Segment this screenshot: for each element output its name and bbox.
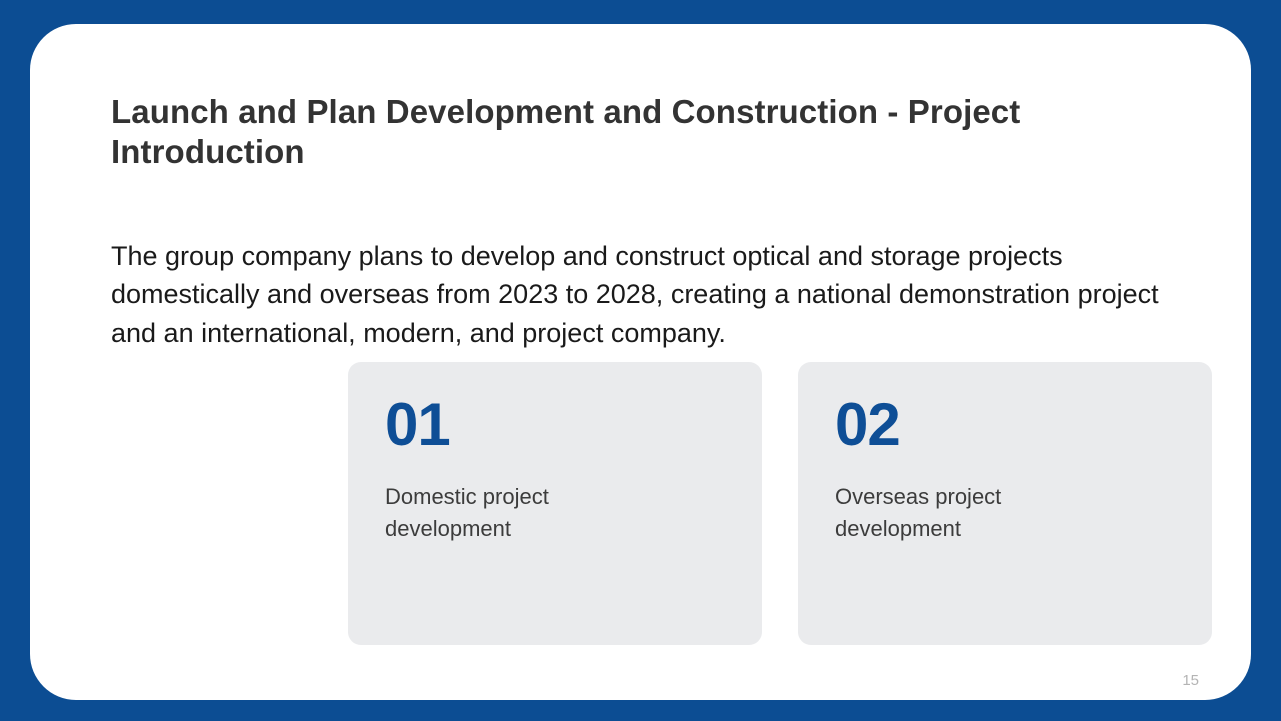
card-overseas-project[interactable]: 02 Overseas project development — [798, 362, 1212, 645]
page-title: Launch and Plan Development and Construc… — [111, 92, 1171, 173]
card-number: 01 — [385, 395, 762, 455]
card-domestic-project[interactable]: 01 Domestic project development — [348, 362, 762, 645]
card-caption: Overseas project development — [835, 481, 1065, 545]
page-number: 15 — [1182, 672, 1199, 689]
card-number: 02 — [835, 395, 1212, 455]
card-caption: Domestic project development — [385, 481, 615, 545]
slide-frame: Launch and Plan Development and Construc… — [0, 0, 1281, 721]
body-paragraph: The group company plans to develop and c… — [111, 237, 1181, 352]
slide-panel: Launch and Plan Development and Construc… — [30, 24, 1251, 700]
card-list: 01 Domestic project development 02 Overs… — [348, 362, 1214, 645]
